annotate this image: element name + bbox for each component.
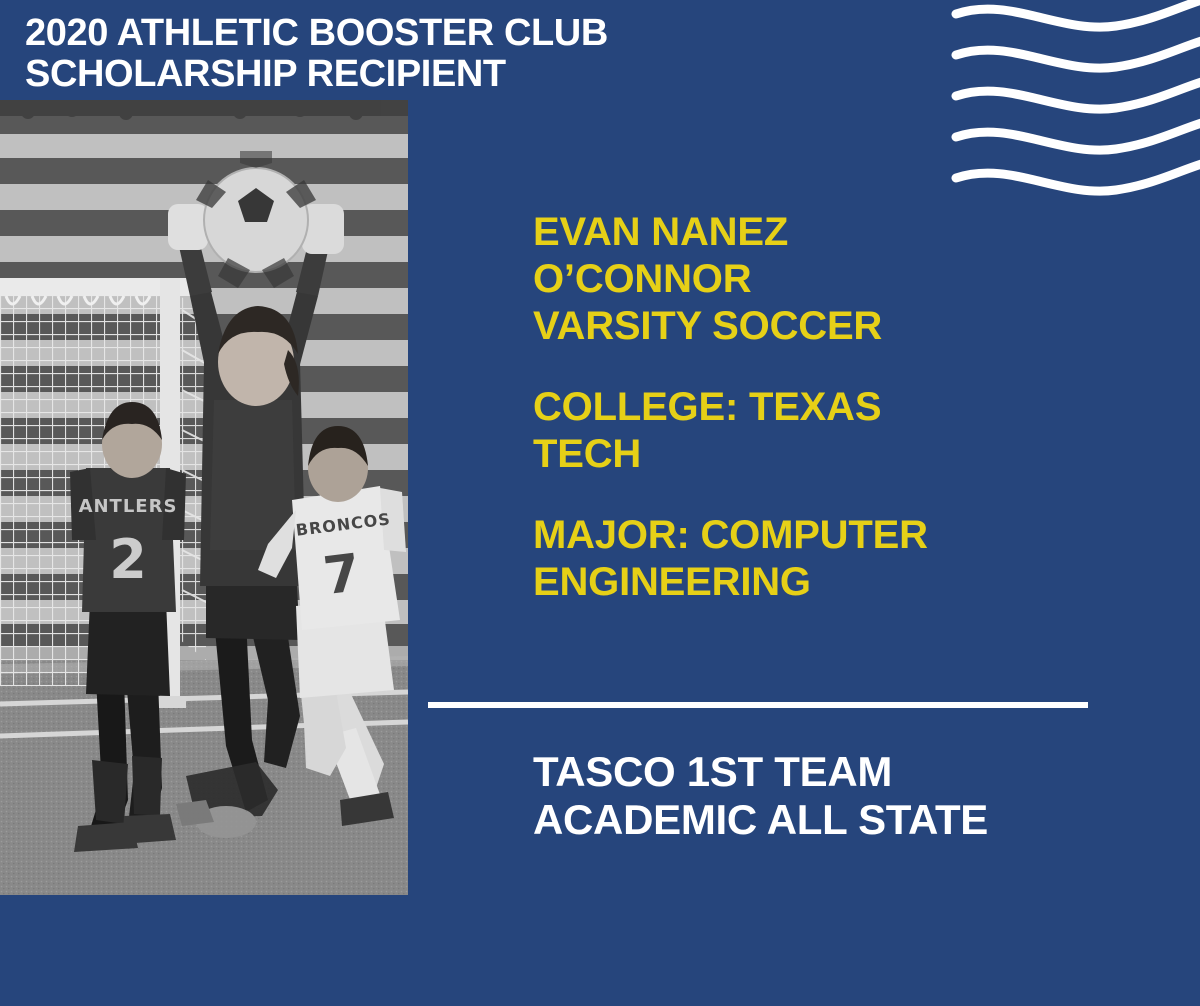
recipient-major-group: MAJOR: COMPUTER ENGINEERING	[533, 512, 1093, 606]
award-line-1: TASCO 1ST TEAM	[533, 748, 1133, 796]
recipient-action-photo: ANTLERS 2	[0, 100, 408, 895]
recipient-name-group: EVAN NANEZ O’CONNOR VARSITY SOCCER	[533, 209, 1093, 350]
recipient-info-block: EVAN NANEZ O’CONNOR VARSITY SOCCER COLLE…	[533, 209, 1093, 606]
section-divider	[428, 702, 1088, 708]
recipient-college-line-2: TECH	[533, 431, 1093, 478]
header-line-1: 2020 ATHLETIC BOOSTER CLUB	[25, 13, 725, 54]
recipient-name: EVAN NANEZ	[533, 209, 1093, 256]
recipient-school: O’CONNOR	[533, 256, 1093, 303]
recipient-major-line-1: MAJOR: COMPUTER	[533, 512, 1093, 559]
header-line-2: SCHOLARSHIP RECIPIENT	[25, 54, 725, 95]
scholarship-poster: 2020 ATHLETIC BOOSTER CLUB SCHOLARSHIP R…	[0, 0, 1200, 1006]
recipient-sport: VARSITY SOCCER	[533, 303, 1093, 350]
recipient-major-line-2: ENGINEERING	[533, 559, 1093, 606]
wave-lines-icon	[940, 0, 1200, 205]
recipient-college-line-1: COLLEGE: TEXAS	[533, 384, 1093, 431]
award-block: TASCO 1ST TEAM ACADEMIC ALL STATE	[533, 748, 1133, 844]
recipient-college-group: COLLEGE: TEXAS TECH	[533, 384, 1093, 478]
poster-header: 2020 ATHLETIC BOOSTER CLUB SCHOLARSHIP R…	[25, 13, 725, 95]
award-line-2: ACADEMIC ALL STATE	[533, 796, 1133, 844]
